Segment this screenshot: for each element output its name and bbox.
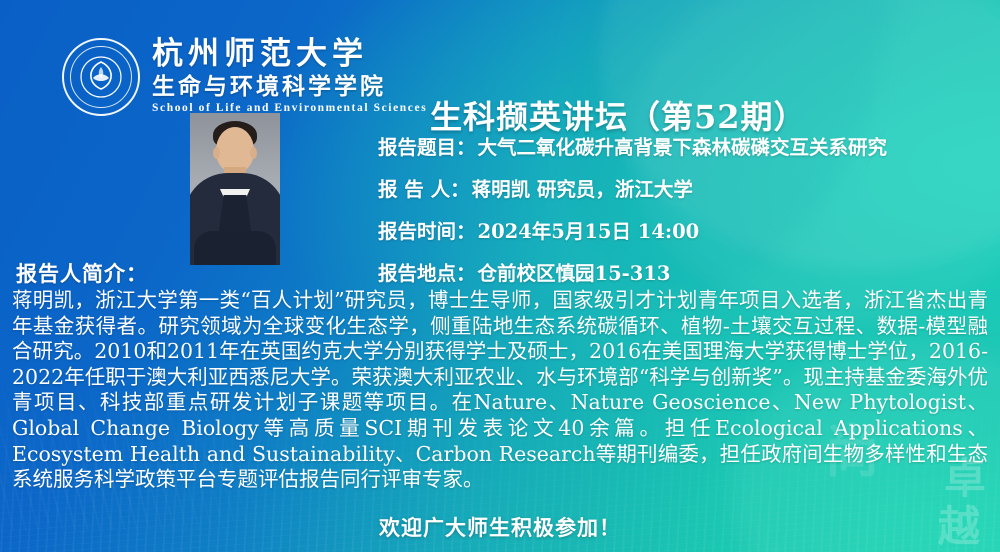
bio-heading: 报告人简介： (16, 258, 148, 288)
info-row-speaker: 报 告 人： 蒋明凯 研究员，浙江大学 (378, 173, 988, 202)
info-label-location: 报告地点： (378, 257, 476, 286)
bio-text: 蒋明凯，浙江大学第一类“百人计划”研究员，博士生导师，国家级引才计划青年项目入选… (12, 288, 988, 493)
university-name-block: 杭州师范大学 生命与环境科学学院 School of Life and Envi… (152, 39, 427, 115)
info-value-time: 2024年5月15日 14:00 (478, 215, 700, 244)
info-row-topic: 报告题目： 大气二氧化碳升高背景下森林碳磷交互关系研究 (378, 131, 988, 160)
info-label-time: 报告时间： (378, 215, 476, 244)
university-crest-icon (62, 38, 140, 116)
speaker-portrait (190, 113, 280, 265)
university-name-cn: 杭州师范大学 (152, 39, 427, 70)
info-label-topic: 报告题目： (378, 131, 476, 160)
info-value-topic: 大气二氧化碳升高背景下森林碳磷交互关系研究 (478, 131, 888, 160)
info-label-speaker: 报 告 人： (378, 173, 470, 202)
poster-header: 杭州师范大学 生命与环境科学学院 School of Life and Envi… (0, 34, 1000, 120)
seminar-info-block: 报告题目： 大气二氧化碳升高背景下森林碳磷交互关系研究 报 告 人： 蒋明凯 研… (378, 131, 988, 299)
footer-invitation: 欢迎广大师生积极参加！ (0, 512, 1000, 542)
portrait-ear-left (213, 147, 220, 159)
seminar-poster: 尚 卓 越 杭州师范大学 生命与环境科学学院 School of Life an… (0, 0, 1000, 552)
info-row-location: 报告地点： 仓前校区慎园15-313 (378, 257, 988, 286)
school-name-cn: 生命与环境科学学院 (152, 75, 427, 98)
info-row-time: 报告时间： 2024年5月15日 14:00 (378, 215, 988, 244)
portrait-arms (194, 231, 276, 265)
portrait-ear-right (250, 147, 257, 159)
info-value-speaker: 蒋明凯 研究员，浙江大学 (472, 173, 693, 202)
info-value-location: 仓前校区慎园15-313 (478, 257, 671, 286)
university-logo: 杭州师范大学 生命与环境科学学院 School of Life and Envi… (62, 38, 427, 116)
